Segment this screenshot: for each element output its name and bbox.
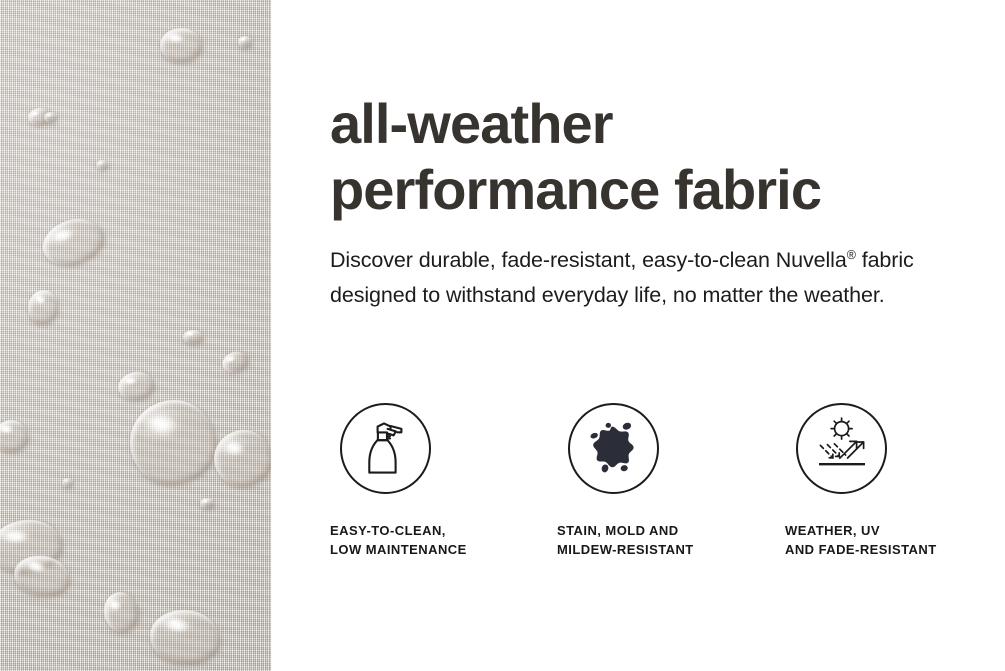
water-droplet: [183, 330, 203, 344]
feature-item-easy-to-clean: EASY-TO-CLEAN, LOW MAINTENANCE: [330, 402, 557, 559]
water-droplet: [200, 498, 214, 509]
feature-item-stain-resistant: STAIN, MOLD AND MILDEW-RESISTANT: [557, 402, 784, 559]
sun-uv-reflect-icon: [795, 402, 888, 495]
water-droplet: [44, 112, 57, 123]
feature-item-weather-uv-resistant: WEATHER, UV AND FADE-RESISTANT: [784, 402, 1005, 559]
water-droplet: [100, 589, 142, 635]
feature-list: EASY-TO-CLEAN, LOW MAINTENANCE: [330, 402, 1005, 559]
water-droplet: [62, 478, 73, 487]
spray-bottle-icon: [339, 402, 432, 495]
water-droplet: [238, 36, 252, 48]
feature-caption: STAIN, MOLD AND MILDEW-RESISTANT: [557, 521, 784, 559]
fabric-image-panel: [0, 0, 271, 671]
water-droplet: [37, 211, 110, 272]
water-droplet: [147, 606, 222, 667]
feature-caption: WEATHER, UV AND FADE-RESISTANT: [785, 521, 1005, 559]
promo-description: Discover durable, fade-resistant, easy-t…: [330, 243, 950, 313]
fabric-water-beading-photo: [0, 0, 271, 671]
promo-content-panel: all-weather performance fabric Discover …: [271, 0, 1005, 671]
brand-name: Nuvella: [776, 248, 847, 272]
water-droplet: [219, 348, 250, 376]
feature-caption: EASY-TO-CLEAN, LOW MAINTENANCE: [330, 521, 557, 559]
water-droplet: [210, 426, 271, 490]
water-droplet: [0, 420, 28, 452]
promo-description-line-3: no matter the weather.: [673, 283, 885, 307]
all-weather-fabric-promo-banner: all-weather performance fabric Discover …: [0, 0, 1005, 671]
registered-trademark-icon: ®: [847, 248, 856, 262]
water-droplet: [160, 28, 202, 62]
promo-description-line-1: Discover durable, fade-resistant, easy-t…: [330, 248, 770, 272]
page-title: all-weather performance fabric: [330, 91, 990, 223]
water-droplet: [130, 400, 216, 484]
stain-splatter-icon: [567, 402, 660, 495]
water-droplet: [116, 369, 156, 403]
water-droplet: [96, 160, 108, 170]
water-droplet: [26, 288, 60, 326]
